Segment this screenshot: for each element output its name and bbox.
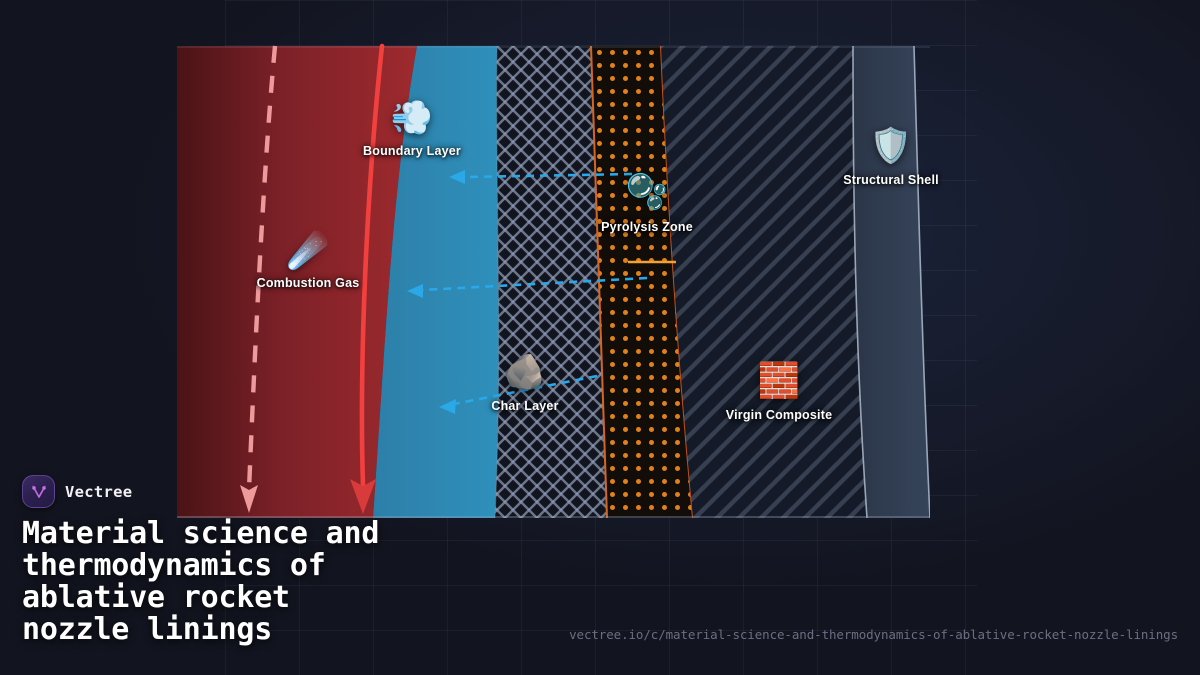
layer-emoji-pyrolysis-zone: 🫧 [626,175,668,209]
layer-emoji-combustion-gas: ☄️ [287,234,329,268]
layer-label-boundary-layer: Boundary Layer [363,144,461,158]
layer-emoji-structural-shell: 🛡️ [870,129,912,163]
layer-label-char-layer: Char Layer [491,399,558,413]
layer-virgin-composite [661,46,867,518]
layer-structural-shell [853,46,930,518]
layer-label-virgin-composite: Virgin Composite [726,408,832,422]
vectree-v-logo-icon [22,475,55,508]
page-title: Material science and thermodynamics of a… [22,518,642,646]
footer: Vectree Material science and thermodynam… [0,470,1200,675]
brand-name: Vectree [65,483,132,501]
brand: Vectree [22,475,132,508]
layer-emoji-char-layer: 🪨 [504,355,546,389]
layer-label-structural-shell: Structural Shell [843,173,939,187]
page-url: vectree.io/c/material-science-and-thermo… [569,627,1178,642]
layer-emoji-virgin-composite: 🧱 [758,364,800,398]
layer-label-combustion-gas: Combustion Gas [257,276,360,290]
layer-label-pyrolysis-zone: Pyrolysis Zone [601,220,693,234]
slide-canvas: ☄️ Combustion Gas 💨 Boundary Layer 🪨 Cha… [0,0,1200,675]
layer-emoji-boundary-layer: 💨 [391,101,433,135]
